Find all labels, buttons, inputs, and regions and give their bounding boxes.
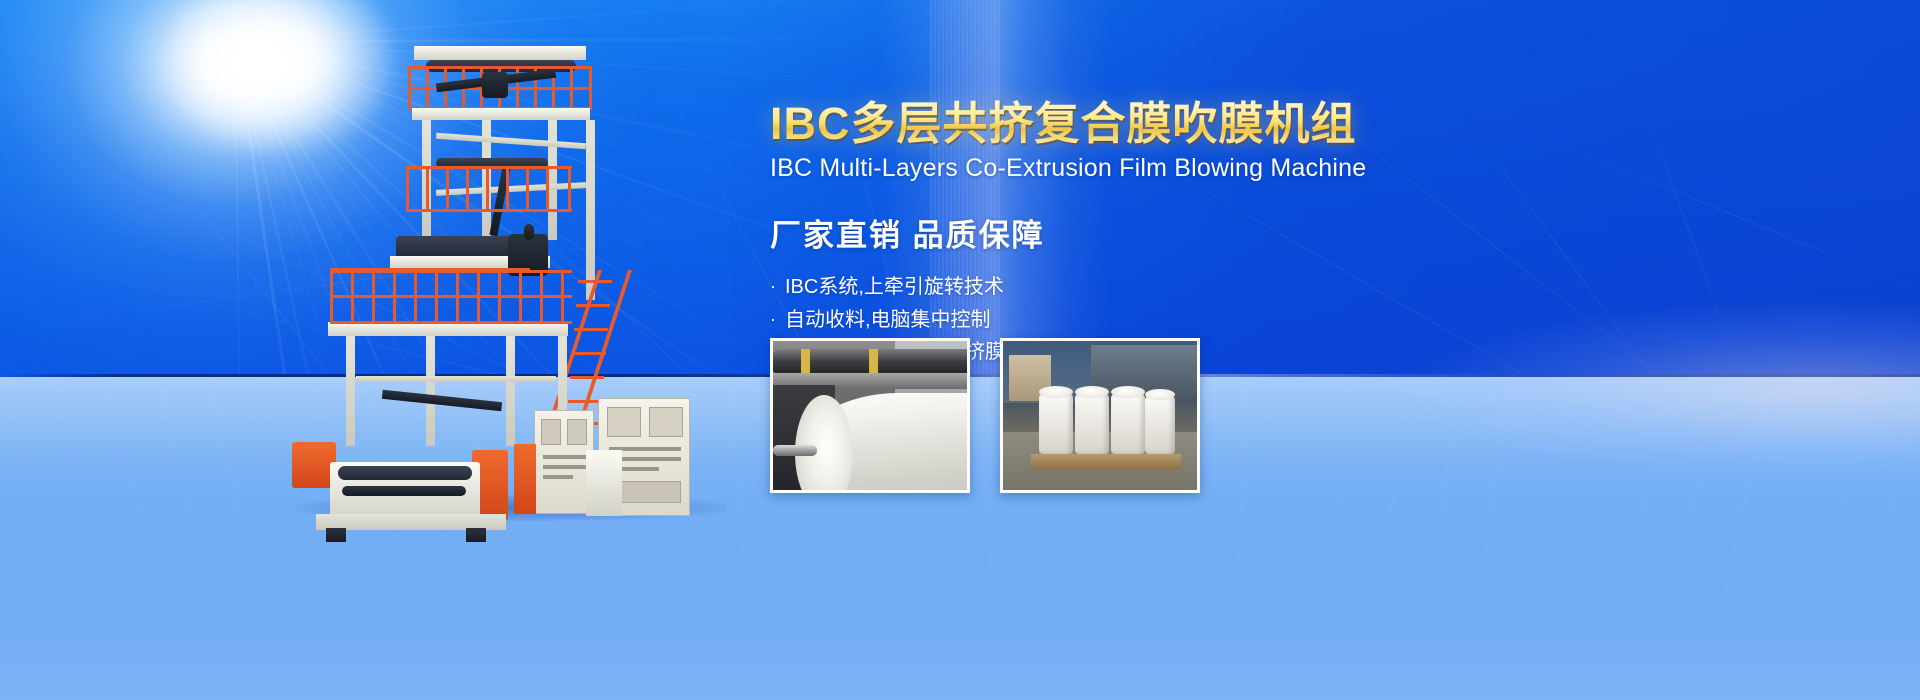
- lower-railing: [330, 270, 572, 324]
- page-title: IBC多层共挤复合膜吹膜机组: [770, 100, 1470, 147]
- page-subtitle-en: IBC Multi-Layers Co-Extrusion Film Blowi…: [770, 154, 1470, 183]
- list-item: · 自动收料,电脑集中控制: [770, 304, 1470, 336]
- tagline: 厂家直销 品质保障: [770, 210, 1470, 255]
- promo-banner: IBC多层共挤复合膜吹膜机组 IBC Multi-Layers Co-Extru…: [0, 0, 1920, 700]
- right-horizon-glow: [1400, 300, 1920, 480]
- list-item: · IBC系统,上牵引旋转技术: [770, 271, 1470, 303]
- banner-copy: IBC多层共挤复合膜吹膜机组 IBC Multi-Layers Co-Extru…: [770, 100, 1470, 368]
- feature-text: IBC系统,上牵引旋转技术: [785, 271, 1004, 303]
- control-cabinet-1: [534, 410, 594, 514]
- film-blowing-machine-illustration: [286, 46, 736, 516]
- feature-text: 自动收料,电脑集中控制: [785, 304, 991, 336]
- product-photo-gallery: [770, 338, 1200, 493]
- mid-railing: [406, 166, 572, 212]
- bullet-dot-icon: ·: [770, 271, 776, 302]
- bullet-dot-icon: ·: [770, 304, 776, 335]
- product-photo-stretch-film-pallet: [1000, 338, 1200, 493]
- product-photo-film-roll: [770, 338, 970, 493]
